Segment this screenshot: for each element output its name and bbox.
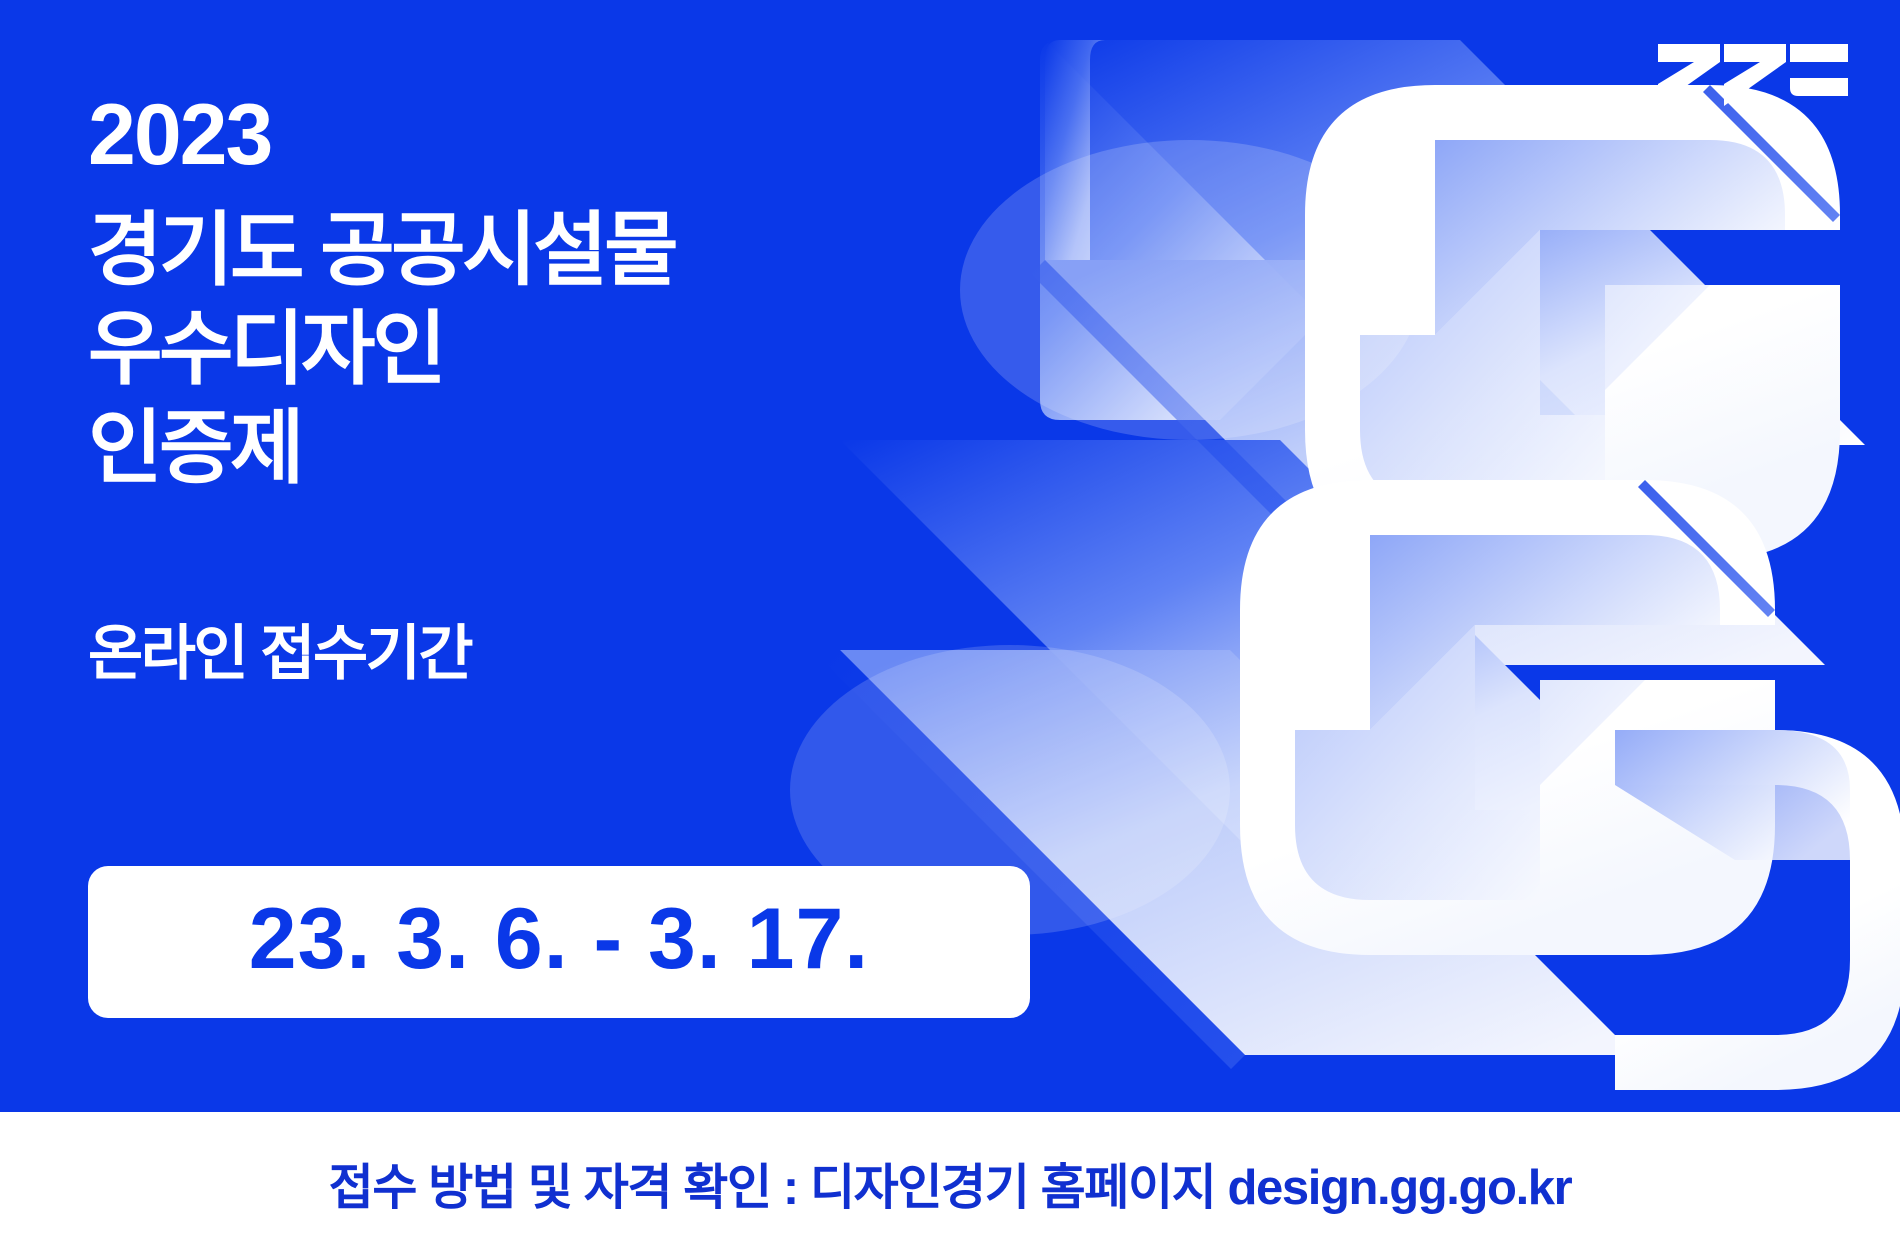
poster-banner: 2023 경기도 공공시설물 우수디자인 인증제 온라인 접수기간 23. 3.… <box>0 0 1900 1255</box>
title-line-2: 우수디자인 <box>88 301 918 400</box>
application-date-badge: 23. 3. 6. - 3. 17. <box>88 866 1030 1018</box>
title-line-3: 인증제 <box>88 400 918 499</box>
title-line-1: 경기도 공공시설물 <box>88 202 918 301</box>
year-label: 2023 <box>88 92 918 178</box>
headline-block: 2023 경기도 공공시설물 우수디자인 인증제 <box>88 92 918 498</box>
footer-info-text[interactable]: 접수 방법 및 자격 확인 : 디자인경기 홈페이지 design.gg.go.… <box>329 1148 1572 1219</box>
online-application-period-label: 온라인 접수기간 <box>88 605 471 692</box>
application-date-range: 23. 3. 6. - 3. 17. <box>249 890 869 989</box>
footer-bar: 접수 방법 및 자격 확인 : 디자인경기 홈페이지 design.gg.go.… <box>0 1112 1900 1255</box>
ggd-logo-mark-icon <box>1658 44 1848 106</box>
main-blue-panel: 2023 경기도 공공시설물 우수디자인 인증제 온라인 접수기간 23. 3.… <box>0 0 1900 1112</box>
